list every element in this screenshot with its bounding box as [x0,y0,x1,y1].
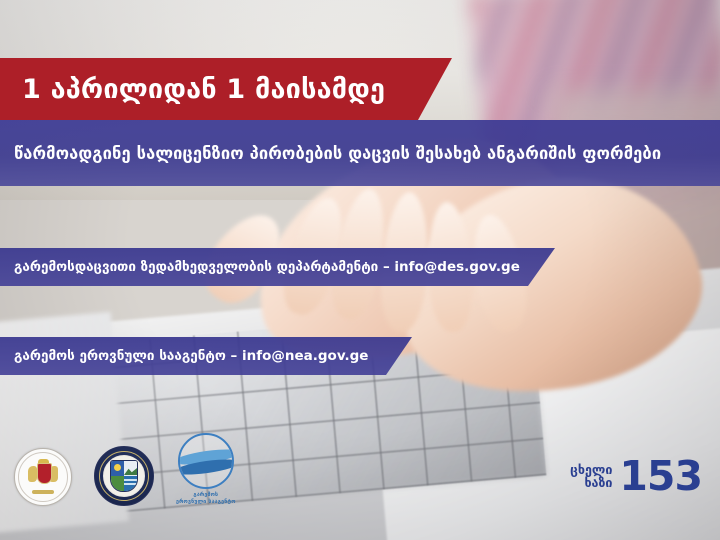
hotline-label: ცხელი ხაზი [570,464,612,490]
contact-band-department: გარემოსდაცვითი ზედამხედველობის დეპარტამე… [0,248,560,286]
shield-base [32,490,54,494]
headline-banner: 1 აპრილიდან 1 მაისამდე [0,58,480,120]
nea-caption-line-1: გარემოს [176,492,236,499]
red-shield-icon [37,463,52,484]
subtitle-band: წარმოადგინე სალიცენზიო პირობების დაცვის … [0,120,720,186]
contact-email-1[interactable]: info@des.gov.ge [394,259,519,275]
nea-logo-caption: გარემოს ეროვნული სააგენტო [176,492,236,506]
logo-row: გარემოს ეროვნული სააგენტო [14,433,236,506]
hotline-number: 153 [619,460,702,494]
department-shield-icon [110,460,138,492]
poster: 1 აპრილიდან 1 მაისამდე წარმოადგინე სალიც… [0,0,720,540]
contact-line-1: გარემოსდაცვითი ზედამხედველობის დეპარტამე… [0,259,520,275]
subtitle-text: წარმოადგინე სალიცენზიო პირობების დაცვის … [0,144,661,163]
contact-email-2[interactable]: info@nea.gov.ge [242,348,368,364]
contact-org-1: გარემოსდაცვითი ზედამხედველობის დეპარტამე… [14,259,378,275]
nea-caption-line-2: ეროვნული სააგენტო [176,499,236,506]
shield-quarter-mountain [124,461,137,476]
shield-quarter-sun [111,461,124,476]
department-seal-icon [94,446,154,506]
hotline-label-line-2: ხაზი [570,477,612,490]
shield-quarter-water [124,476,137,491]
ministry-coat-of-arms-icon [14,448,72,506]
contact-sep-1: – [378,259,394,275]
contact-line-2: გარემოს ეროვნული სააგენტო – info@nea.gov… [0,348,368,364]
wave-circle-icon [178,433,234,489]
lion-left-icon [28,466,37,482]
hotline-block: ცხელი ხაზი 153 [570,460,702,494]
contact-sep-2: – [226,348,242,364]
national-environment-agency-logo: გარემოს ეროვნული სააგენტო [176,433,236,506]
headline-text: 1 აპრილიდან 1 მაისამდე [0,76,385,103]
contact-band-agency: გარემოს ეროვნული სააგენტო – info@nea.gov… [0,337,420,375]
contact-org-2: გარემოს ეროვნული სააგენტო [14,348,226,364]
coat-of-arms-shield [28,460,58,494]
